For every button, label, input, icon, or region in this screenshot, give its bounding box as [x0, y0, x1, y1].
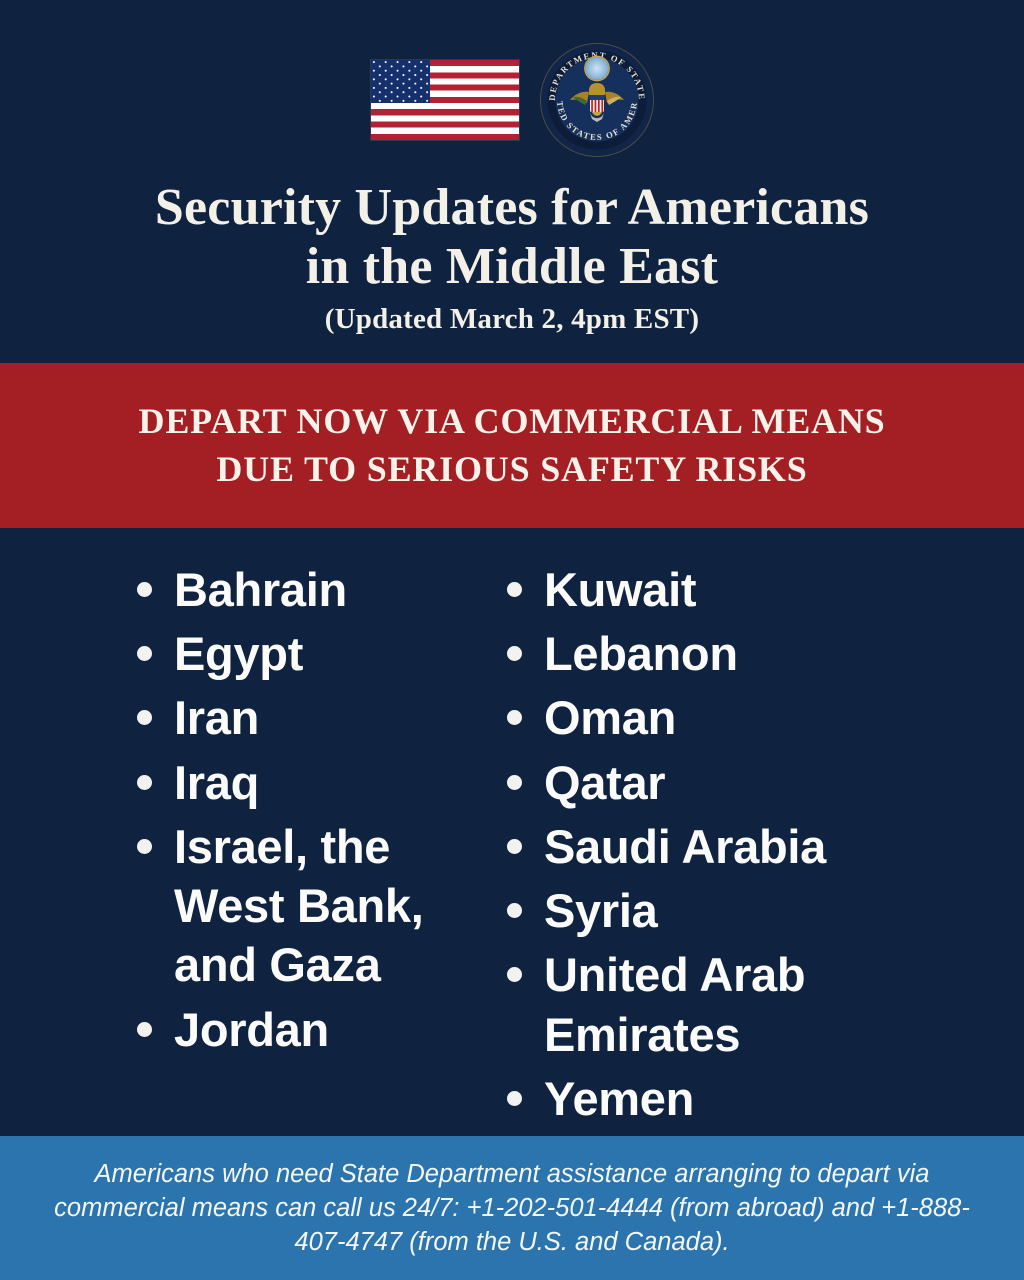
- bullet-icon: [507, 1091, 522, 1106]
- country-name: Oman: [544, 688, 676, 747]
- country-name: Kuwait: [544, 560, 696, 619]
- us-flag-icon: [371, 60, 519, 140]
- security-update-poster: DEPARTMENT OF STATE UNITED STATES OF AME…: [0, 0, 1024, 1280]
- country-name: Lebanon: [544, 624, 738, 683]
- bullet-icon: [507, 646, 522, 661]
- last-updated-label: (Updated March 2, 4pm EST): [0, 303, 1024, 336]
- bullet-icon: [507, 775, 522, 790]
- list-item: Oman: [507, 688, 907, 747]
- bullet-icon: [137, 839, 152, 854]
- title-line-1: Security Updates for Americans: [0, 178, 1024, 237]
- assistance-text: Americans who need State Department assi…: [46, 1157, 978, 1259]
- title-line-2: in the Middle East: [0, 237, 1024, 296]
- bullet-icon: [137, 646, 152, 661]
- emblem-row: DEPARTMENT OF STATE UNITED STATES OF AME…: [0, 55, 1024, 145]
- country-list-area: Bahrain Egypt Iran Iraq Israel, the West…: [0, 560, 1024, 1130]
- alert-banner: DEPART NOW VIA COMMERCIAL MEANS DUE TO S…: [0, 363, 1024, 528]
- list-item: United Arab Emirates: [507, 945, 907, 1063]
- bullet-icon: [507, 710, 522, 725]
- list-item: Bahrain: [137, 560, 507, 619]
- seal-eagle-icon: [568, 75, 626, 125]
- list-item: Jordan: [137, 1000, 507, 1059]
- list-item: Egypt: [137, 624, 507, 683]
- list-item: Yemen: [507, 1069, 907, 1128]
- country-name: Jordan: [174, 1000, 329, 1059]
- alert-line-2: DUE TO SERIOUS SAFETY RISKS: [216, 451, 807, 489]
- country-name: United Arab Emirates: [544, 945, 874, 1063]
- country-name: Egypt: [174, 624, 303, 683]
- assistance-footer: Americans who need State Department assi…: [0, 1136, 1024, 1280]
- list-item: Lebanon: [507, 624, 907, 683]
- country-name: Yemen: [544, 1069, 694, 1128]
- bullet-icon: [507, 967, 522, 982]
- department-of-state-seal-icon: DEPARTMENT OF STATE UNITED STATES OF AME…: [541, 44, 653, 156]
- country-name: Saudi Arabia: [544, 817, 826, 876]
- country-name: Syria: [544, 881, 657, 940]
- country-name: Israel, the West Bank, and Gaza: [174, 817, 474, 995]
- list-item: Qatar: [507, 753, 907, 812]
- bullet-icon: [137, 775, 152, 790]
- bullet-icon: [507, 582, 522, 597]
- country-name: Iraq: [174, 753, 259, 812]
- bullet-icon: [137, 710, 152, 725]
- country-column-right: Kuwait Lebanon Oman Qatar Saudi Arabia S…: [507, 560, 907, 1130]
- country-column-left: Bahrain Egypt Iran Iraq Israel, the West…: [137, 560, 507, 1130]
- list-item: Kuwait: [507, 560, 907, 619]
- flag-stars: [371, 60, 430, 103]
- list-item: Iran: [137, 688, 507, 747]
- alert-line-1: DEPART NOW VIA COMMERCIAL MEANS: [139, 403, 886, 441]
- seal-glory-disc: [586, 57, 609, 80]
- list-item: Syria: [507, 881, 907, 940]
- list-item: Israel, the West Bank, and Gaza: [137, 817, 507, 995]
- list-item: Saudi Arabia: [507, 817, 907, 876]
- bullet-icon: [507, 839, 522, 854]
- bullet-icon: [137, 582, 152, 597]
- country-name: Bahrain: [174, 560, 347, 619]
- list-item: Iraq: [137, 753, 507, 812]
- flag-canton: [371, 60, 430, 103]
- page-title: Security Updates for Americans in the Mi…: [0, 178, 1024, 336]
- bullet-icon: [507, 903, 522, 918]
- bullet-icon: [137, 1022, 152, 1037]
- country-name: Iran: [174, 688, 259, 747]
- country-name: Qatar: [544, 753, 665, 812]
